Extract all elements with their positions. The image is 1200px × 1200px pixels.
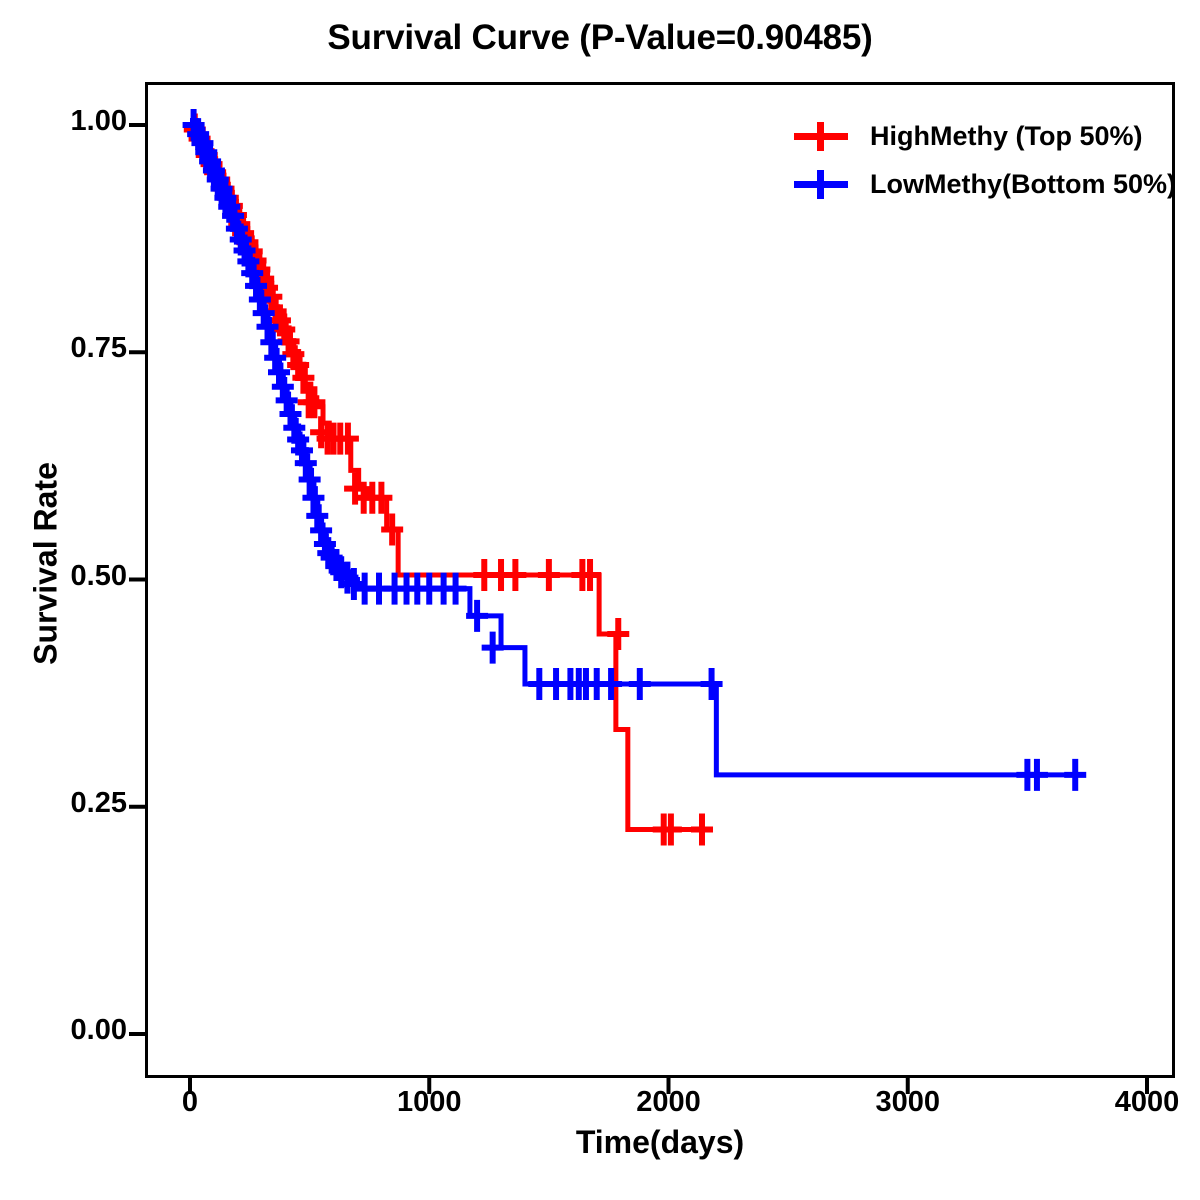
censor-mark — [607, 618, 629, 650]
x-tick-label-3: 2000 — [589, 1086, 749, 1119]
series-lowmethy — [183, 109, 1087, 791]
plus-marker-icon — [790, 164, 852, 204]
x-tick-label-5: 4000 — [1067, 1086, 1200, 1119]
y-tick-label-5: 0.00 — [17, 1014, 127, 1047]
y-tick-label-4: 0.25 — [17, 787, 127, 820]
legend-item-lowmethy: LowMethy(Bottom 50%) — [790, 160, 1170, 208]
censor-mark — [629, 668, 651, 700]
censor-mark — [701, 668, 723, 700]
x-tick-label-1: 0 — [110, 1086, 270, 1119]
censor-mark — [538, 559, 560, 591]
censor-mark — [1064, 759, 1086, 791]
series-highmethy — [184, 114, 713, 846]
censor-mark — [691, 813, 713, 845]
legend-item-highmethy: HighMethy (Top 50%) — [790, 112, 1170, 160]
x-tick-label-2: 1000 — [349, 1086, 509, 1119]
y-tick-label-2: 0.75 — [17, 332, 127, 365]
y-axis-title: Survival Rate — [28, 434, 65, 694]
y-tick-label-1: 1.00 — [17, 105, 127, 138]
survival-curve-figure: Survival Curve (P-Value=0.90485) 1.00 0.… — [0, 0, 1200, 1200]
censor-mark — [504, 559, 526, 591]
axis-tick-marks — [129, 125, 1147, 1094]
plus-marker-icon — [790, 116, 852, 156]
chart-legend: HighMethy (Top 50%) LowMethy(Bottom 50%) — [790, 112, 1170, 208]
censor-mark — [600, 668, 622, 700]
legend-label-lowmethy: LowMethy(Bottom 50%) — [870, 169, 1176, 200]
series-layer — [183, 109, 1087, 845]
x-tick-label-4: 3000 — [828, 1086, 988, 1119]
legend-label-highmethy: HighMethy (Top 50%) — [870, 121, 1143, 152]
x-axis-title: Time(days) — [145, 1124, 1175, 1161]
